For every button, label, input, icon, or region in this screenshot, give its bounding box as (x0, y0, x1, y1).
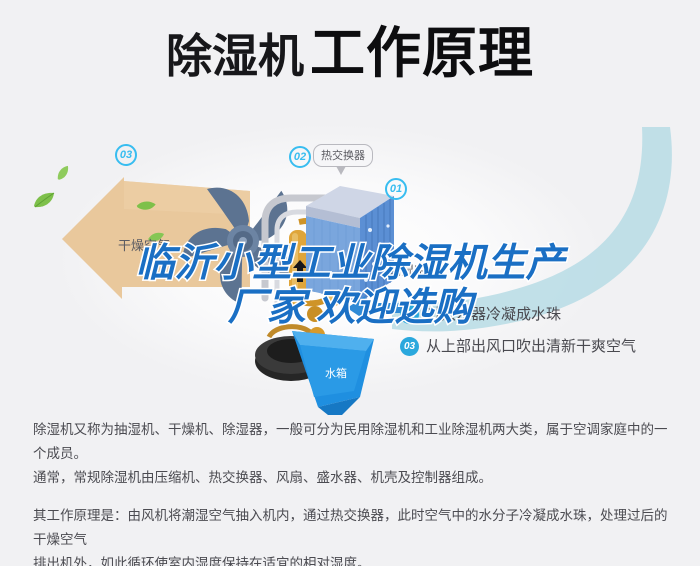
page-title-part1: 除湿机 (166, 30, 304, 82)
badge-01: 01 (385, 178, 407, 200)
water-tank: 水箱 (288, 325, 378, 415)
leaf-icon (32, 190, 56, 210)
paragraph-1-line-1: 除湿机又称为抽湿机、干燥机、除湿器，一般可分为民用除湿机和工业除湿机两大类，属于… (33, 418, 671, 466)
step-item: 02 过蒸发器冷凝成水珠 (400, 301, 690, 333)
water-tank-label: 水箱 (325, 366, 347, 380)
humid-air-label: 潮湿空气 (388, 260, 440, 279)
heat-exchanger-callout: 热交换器 (313, 144, 373, 167)
paragraph-spacer (33, 490, 671, 504)
step-text: 从上部出风口吹出清新干爽空气 (426, 335, 636, 356)
step-item: 03 从上部出风口吹出清新干爽空气 (400, 333, 690, 365)
dry-air-label: 干燥空气 (118, 235, 170, 254)
paragraph-2-line-1: 其工作原理是：由风机将潮湿空气抽入机内，通过热交换器，此时空气中的水分子冷凝成水… (33, 504, 671, 552)
paragraph-2-line-2: 排出机外，如此循环使室内湿度保持在适宜的相对湿度。 (33, 552, 671, 566)
step-badge: 02 (400, 305, 419, 324)
badge-03: 03 (115, 144, 137, 166)
paragraph-1-line-2: 通常，常规除湿机由压缩机、热交换器、风扇、盛水器、机壳及控制器组成。 (33, 466, 671, 490)
body-copy: 除湿机又称为抽湿机、干燥机、除湿器，一般可分为民用除湿机和工业除湿机两大类，属于… (33, 418, 671, 566)
infographic-page: 除湿机工作原理 (0, 0, 700, 566)
step-text: 过蒸发器冷凝成水珠 (426, 303, 561, 324)
page-title: 除湿机工作原理 (0, 26, 700, 81)
badge-02: 02 (289, 146, 311, 168)
steps-list: 02 过蒸发器冷凝成水珠 03 从上部出风口吹出清新干爽空气 (400, 301, 690, 365)
step-badge: 03 (400, 337, 419, 356)
page-title-part2: 工作原理 (310, 22, 534, 84)
